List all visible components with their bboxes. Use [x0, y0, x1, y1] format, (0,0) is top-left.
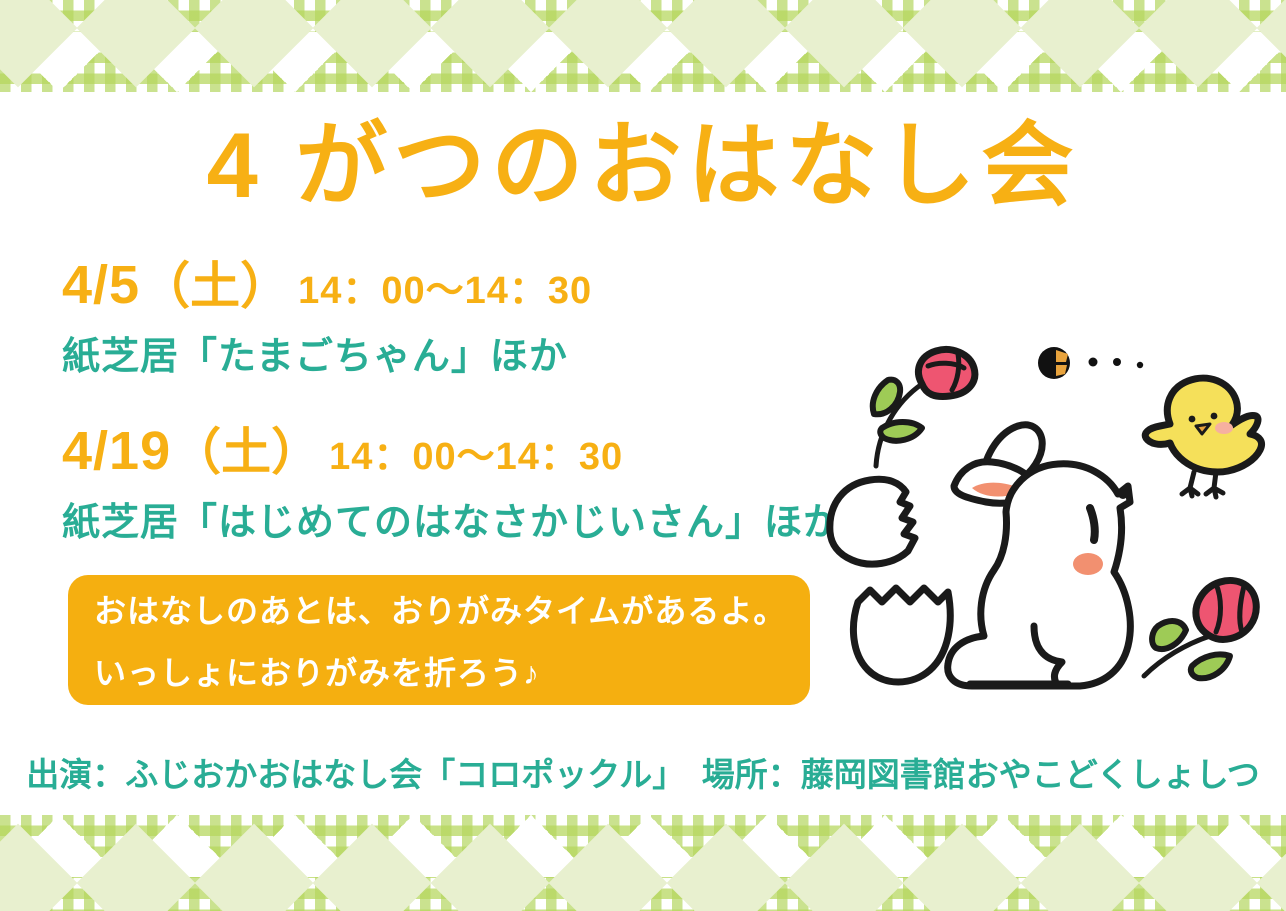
tulip-top-icon — [873, 350, 975, 466]
poster-canvas: 4 がつのおはなし会 4/5（土）14：00〜14：30 紙芝居「たまごちゃん」… — [0, 0, 1286, 911]
schedule-row-date-1: 4/5（土）14：00〜14：30 — [62, 258, 922, 312]
origami-callout-box: おはなしのあとは、おりがみタイムがあるよ。 いっしょにおりがみを折ろう♪ — [68, 575, 810, 705]
gingham-pattern-top — [0, 0, 1286, 92]
tulip-bottom-icon — [1144, 580, 1256, 678]
chick-icon — [1145, 378, 1261, 497]
session-2-date: 4/19 — [62, 421, 171, 481]
rabbit-icon — [948, 425, 1131, 686]
illustration-group — [818, 336, 1278, 708]
eggshell-lower-icon — [853, 588, 950, 682]
session-1-weekday: （土） — [140, 258, 290, 314]
eggshell-upper-icon — [830, 479, 915, 564]
schedule-list: 4/5（土）14：00〜14：30 紙芝居「たまごちゃん」ほか 4/19（土）1… — [62, 258, 922, 542]
session-1-date: 4/5 — [62, 255, 140, 315]
bottom-border-band — [0, 815, 1286, 911]
schedule-row-date-2: 4/19（土）14：00〜14：30 — [62, 424, 922, 478]
session-2-description: 紙芝居「はじめてのはなさかじいさん」ほか — [62, 504, 922, 542]
callout-line-1: おはなしのあとは、おりがみタイムがあるよ。 — [94, 595, 784, 627]
page-title: 4 がつのおはなし会 — [0, 118, 1286, 215]
gingham-pattern-bottom — [0, 815, 1286, 911]
session-2-weekday: （土） — [171, 424, 321, 480]
callout-line-2: いっしょにおりがみを折ろう♪ — [94, 657, 784, 689]
bee-icon — [1038, 347, 1070, 379]
footer-credits: 出演：ふじおかおはなし会「コロポックル」 場所：藤岡図書館おやこどくしょしつ — [0, 748, 1286, 796]
session-2-time: 14：00〜14：30 — [329, 436, 623, 478]
session-1-time: 14：00〜14：30 — [298, 270, 592, 312]
top-border-band — [0, 0, 1286, 92]
motion-dots-icon — [1089, 358, 1144, 369]
session-1-description: 紙芝居「たまごちゃん」ほか — [62, 338, 922, 376]
